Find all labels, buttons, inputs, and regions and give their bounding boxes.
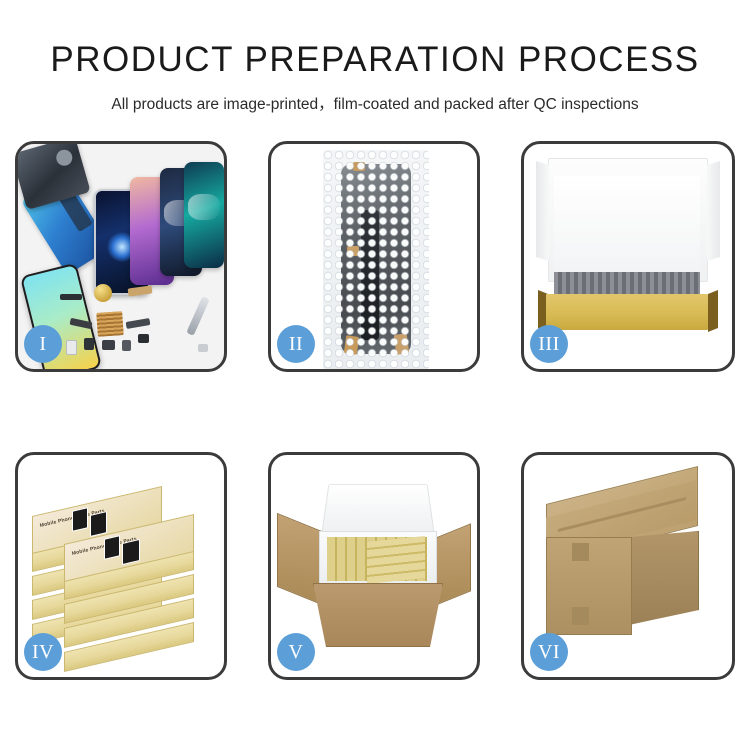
step-badge-5: V [277,633,315,671]
yellow-boxes-row-2 [367,536,425,584]
flex-cable-icon-3 [126,318,151,329]
box-window-left-1 [72,507,88,532]
step-panel-1[interactable]: I [15,141,227,372]
box-window-left-2 [90,511,107,537]
bubble-texture [323,150,429,370]
product-preparation-infographic: PRODUCT PREPARATION PROCESS All products… [0,0,750,750]
speaker-module-icon [94,284,112,302]
small-part-icon-3 [122,340,131,351]
carton-body [313,583,443,647]
step-panel-4[interactable]: Mobile Phone Spare Parts Mobile Phone Sp… [15,452,227,680]
small-part-icon-5 [138,334,149,343]
teal-phone-icon [184,162,224,268]
bubble-bag [323,150,429,370]
foam-sheet [554,176,700,272]
process-steps-grid: I II [0,0,750,750]
small-part-icon-4 [66,340,77,355]
carton-tape-icon-2 [572,607,589,625]
box-stack: Mobile Phone Spare Parts Mobile Phone Sp… [28,477,224,667]
box-window-right-1 [104,535,120,560]
step-panel-5[interactable]: V [268,452,480,680]
box-tray-right-side [708,290,718,332]
step-panel-6[interactable]: VI [521,452,735,680]
box-tray-front [546,294,708,330]
foam-box-lid [321,484,435,536]
box-window-right-2 [122,539,140,565]
gray-bubble-packing [554,272,700,296]
small-part-icon-1 [84,338,94,350]
step-badge-6: VI [530,633,568,671]
step-badge-4: IV [24,633,62,671]
step-badge-2: II [277,325,315,363]
flex-cable-icon-1 [128,285,153,296]
chip-grid-icon [96,311,124,337]
carton-front-face [546,537,632,635]
small-part-icon-6 [198,344,208,352]
carton-tape-icon-1 [572,543,589,561]
carton-side-face [629,531,699,625]
step-panel-2[interactable]: II [268,141,480,372]
step-panel-3[interactable]: III [521,141,735,372]
small-part-icon-2 [102,340,115,350]
step-badge-1: I [24,325,62,363]
speaker-bar-icon [60,294,82,300]
step-badge-3: III [530,325,568,363]
screwdriver-icon [186,296,210,336]
